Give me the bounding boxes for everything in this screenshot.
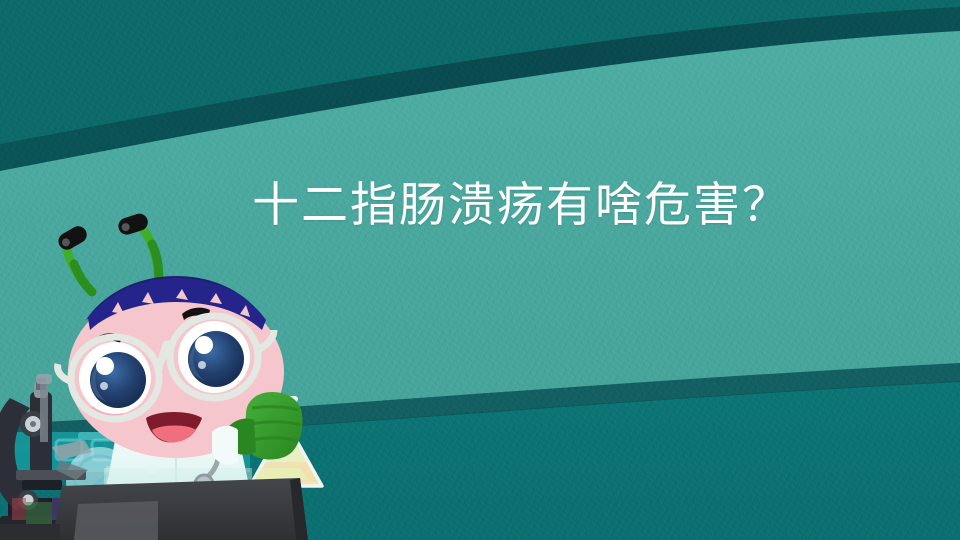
- antenna-left: [55, 223, 92, 292]
- eye-left: [79, 342, 151, 414]
- eye-right: [178, 321, 250, 393]
- antenna-right: [116, 211, 159, 288]
- slide-canvas: 十二指肠溃疡有啥危害？: [0, 0, 960, 540]
- page-title: 十二指肠溃疡有啥危害？: [252, 176, 791, 236]
- mascot-illustration: [0, 0, 960, 540]
